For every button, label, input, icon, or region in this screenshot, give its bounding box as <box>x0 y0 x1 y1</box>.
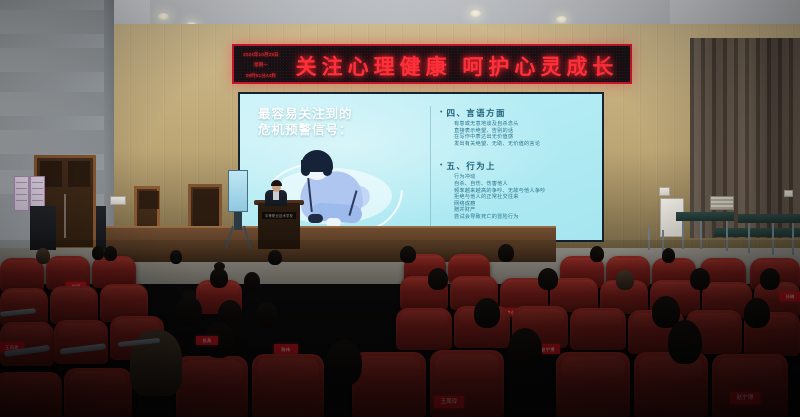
wall-sign <box>110 196 126 205</box>
audience-head <box>92 246 104 260</box>
seat <box>570 308 626 350</box>
audience-head <box>616 270 634 290</box>
led-clock-time: 09时51分44秒 <box>246 73 276 78</box>
seat <box>352 352 426 417</box>
slide-line: 有意或无意地谈及自杀念头 <box>454 121 590 128</box>
audience-hair-bun <box>182 290 196 301</box>
audience-head <box>170 250 182 264</box>
table-leg <box>648 228 650 250</box>
seat <box>556 352 630 417</box>
slide-section: • 五、行为上 行为冲动 自杀、自伤、伤害他人 频率越来越高的争吵、无故与他人争… <box>440 161 590 220</box>
audience-head <box>428 268 448 290</box>
illustration-hair-side <box>301 160 310 176</box>
slide-section-heading: 四、言语方面 <box>446 108 505 119</box>
seat-name-text: 张燕 <box>203 338 212 343</box>
slide-divider <box>430 106 431 228</box>
seat <box>634 352 708 417</box>
audience-head <box>326 340 362 386</box>
monitor-stand <box>234 212 242 230</box>
podium-plate-text: 中等职业技术学校 <box>265 213 293 218</box>
ceiling-downlight <box>470 10 481 17</box>
led-clock: 2024年10月28日 星期一 09时51分44秒 <box>238 49 284 81</box>
slide-line: 赠并财产 <box>454 207 590 214</box>
seat-name-text: 孙琳 <box>786 294 795 299</box>
slide-title-line-2: 危机预警信号： <box>258 122 408 138</box>
seat-name-plate: 张燕 <box>196 336 218 345</box>
seat-name-plate: 王凤玲 <box>434 396 464 408</box>
seat <box>64 368 132 417</box>
audience-head <box>268 250 282 265</box>
stage-platform <box>96 228 556 262</box>
auditorium-photo: 2024年10月28日 星期一 09时51分44秒 关注心理健康 呵护心灵成长 … <box>0 0 800 417</box>
ceiling-downlight <box>158 13 169 20</box>
audience-head <box>244 272 260 290</box>
seat <box>0 288 48 326</box>
slide-content-column: • 四、言语方面 有意或无意地谈及自杀念头 直接表示绝望、告别的话 在写作中表达… <box>440 108 590 230</box>
slide-line: 尝试会导致死亡的冒险行为 <box>454 214 590 221</box>
seat-name-text: 陈伟 <box>282 347 291 352</box>
led-banner-text: 关注心理健康 呵护心灵成长 <box>296 51 619 81</box>
table-leg <box>772 223 774 255</box>
table-leg <box>792 223 794 255</box>
presenter-shirt <box>273 191 279 200</box>
audience-head <box>36 248 50 264</box>
floor-speaker-stand <box>96 206 106 250</box>
audience-head <box>210 268 228 288</box>
audience-head <box>474 298 500 328</box>
illustration-shoe <box>308 214 323 223</box>
slide-section-lines: 行为冲动 自杀、自伤、伤害他人 频率越来越高的争吵、无故与他人争吵 拒绝与他人的… <box>454 174 590 220</box>
seat-name-text: 赵宁博 <box>736 396 753 401</box>
bullet-icon: • <box>440 161 442 171</box>
podium <box>258 203 300 249</box>
table-leg <box>726 221 728 251</box>
audience-hair-bun <box>214 262 225 271</box>
seat <box>50 286 98 324</box>
table-leg <box>700 221 702 249</box>
slide-line: 拒绝与他人的正常社交往来 <box>454 194 590 201</box>
audience-head <box>690 268 710 290</box>
table-leg <box>748 223 750 253</box>
seat-name-text: 王凤玲 <box>440 400 457 405</box>
led-scrolling-banner: 2024年10月28日 星期一 09时51分44秒 关注心理健康 呵护心灵成长 <box>232 44 632 84</box>
audience-head <box>668 320 702 364</box>
audience-head <box>104 246 117 261</box>
seat <box>712 354 788 417</box>
slide-section-lines: 有意或无意地谈及自杀念头 直接表示绝望、告别的话 在写作中表达出无价值感 发出有… <box>454 121 590 147</box>
wall-poster <box>14 176 29 211</box>
wall-vent <box>710 196 734 210</box>
audience-head <box>538 268 558 290</box>
led-banner-text-area: 关注心理健康 呵护心灵成长 <box>290 46 624 84</box>
audience-head <box>508 328 542 370</box>
seat-name-text: 赵宁博 <box>541 347 554 352</box>
seat-name-plate: 孙琳 <box>780 292 800 301</box>
seat <box>176 356 248 417</box>
slide-title-line-1: 最容易关注到的 <box>258 106 408 122</box>
audience-head <box>256 302 278 328</box>
slide-section-heading: 五、行为上 <box>446 161 496 172</box>
slide-line: 行为冲动 <box>454 174 590 181</box>
podium-name-plate: 中等职业技术学校 <box>262 212 296 219</box>
table-leg <box>682 221 684 249</box>
slide-section-heading-row: • 五、行为上 <box>440 161 590 172</box>
seat <box>0 258 44 292</box>
seat <box>0 372 62 417</box>
audience-head <box>400 246 416 263</box>
audience-head <box>744 298 770 328</box>
confidence-monitor <box>228 170 248 212</box>
seat <box>252 354 324 417</box>
led-clock-weekday: 星期一 <box>254 62 268 67</box>
slide-line: 自杀、自伤、伤害他人 <box>454 181 590 188</box>
seat <box>396 308 452 350</box>
floor-speaker-left <box>30 206 56 250</box>
slide-section-heading-row: • 四、言语方面 <box>440 108 590 119</box>
audience-head <box>498 244 514 262</box>
wall-plate <box>784 190 793 197</box>
stacked-table <box>738 214 800 223</box>
audience-head <box>662 248 675 263</box>
presenter-hair <box>271 180 282 186</box>
slide-section: • 四、言语方面 有意或无意地谈及自杀念头 直接表示绝望、告别的话 在写作中表达… <box>440 108 590 147</box>
seat <box>54 320 108 364</box>
wall-speaker-box <box>659 187 670 196</box>
slide-title: 最容易关注到的 危机预警信号： <box>258 106 408 138</box>
curtain-folds <box>690 38 800 238</box>
slide-line: 在写作中表达出无价值感 <box>454 134 590 141</box>
illustration-hair-side <box>323 160 332 176</box>
slide-line: 发出有关绝望、无助、无价值的言论 <box>454 141 590 148</box>
bullet-icon: • <box>440 108 442 118</box>
seat-name-plate: 赵宁博 <box>730 392 760 404</box>
audience-head <box>590 246 604 262</box>
led-clock-date: 2024年10月28日 <box>243 52 279 57</box>
stacked-table <box>676 212 734 221</box>
seat-name-plate: 陈伟 <box>274 344 298 354</box>
audience-head <box>760 268 780 290</box>
ceiling-downlight <box>556 16 567 23</box>
